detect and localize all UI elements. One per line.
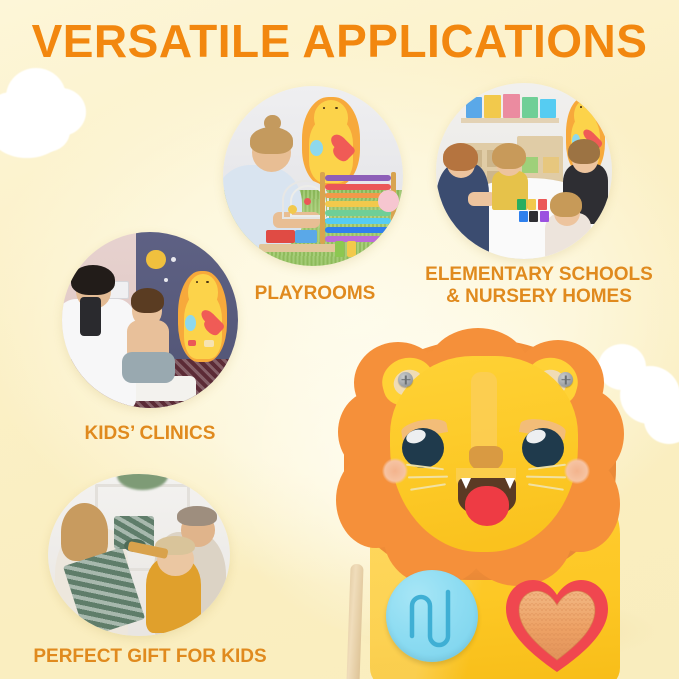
- lion-cheek-left: [382, 458, 408, 484]
- ear-screw-left-icon: [398, 372, 413, 387]
- lion-cheek-right: [564, 458, 590, 484]
- lion-tongue: [465, 486, 509, 526]
- lion-eye-right: [522, 428, 564, 468]
- lion-eye-left: [402, 428, 444, 468]
- nh-logo-icon: [402, 584, 462, 648]
- page-title: VERSATILE APPLICATIONS: [0, 12, 679, 70]
- photo-elementary-schools: [436, 83, 612, 259]
- caption-kids-clinics: KIDS’ CLINICS: [50, 423, 250, 445]
- photo-kids-clinics: [62, 232, 238, 408]
- photo-playrooms: [223, 86, 403, 266]
- blue-round-button[interactable]: [386, 570, 478, 662]
- heart-texture-patch[interactable]: [502, 576, 612, 676]
- lion-busy-board-toy[interactable]: [330, 328, 679, 679]
- wooden-stick[interactable]: [345, 564, 363, 679]
- caption-playrooms: PLAYROOMS: [210, 283, 420, 305]
- lion-fang-left: [461, 478, 471, 489]
- photo-perfect-gift: [48, 474, 230, 636]
- lion-fang-right: [505, 478, 515, 489]
- heart-icon: [502, 576, 612, 676]
- caption-perfect-gift: PERFECT GIFT FOR KIDS: [10, 646, 290, 668]
- ear-screw-right-icon: [558, 372, 573, 387]
- caption-elementary-schools: ELEMENTARY SCHOOLS & NURSERY HOMES: [404, 264, 674, 309]
